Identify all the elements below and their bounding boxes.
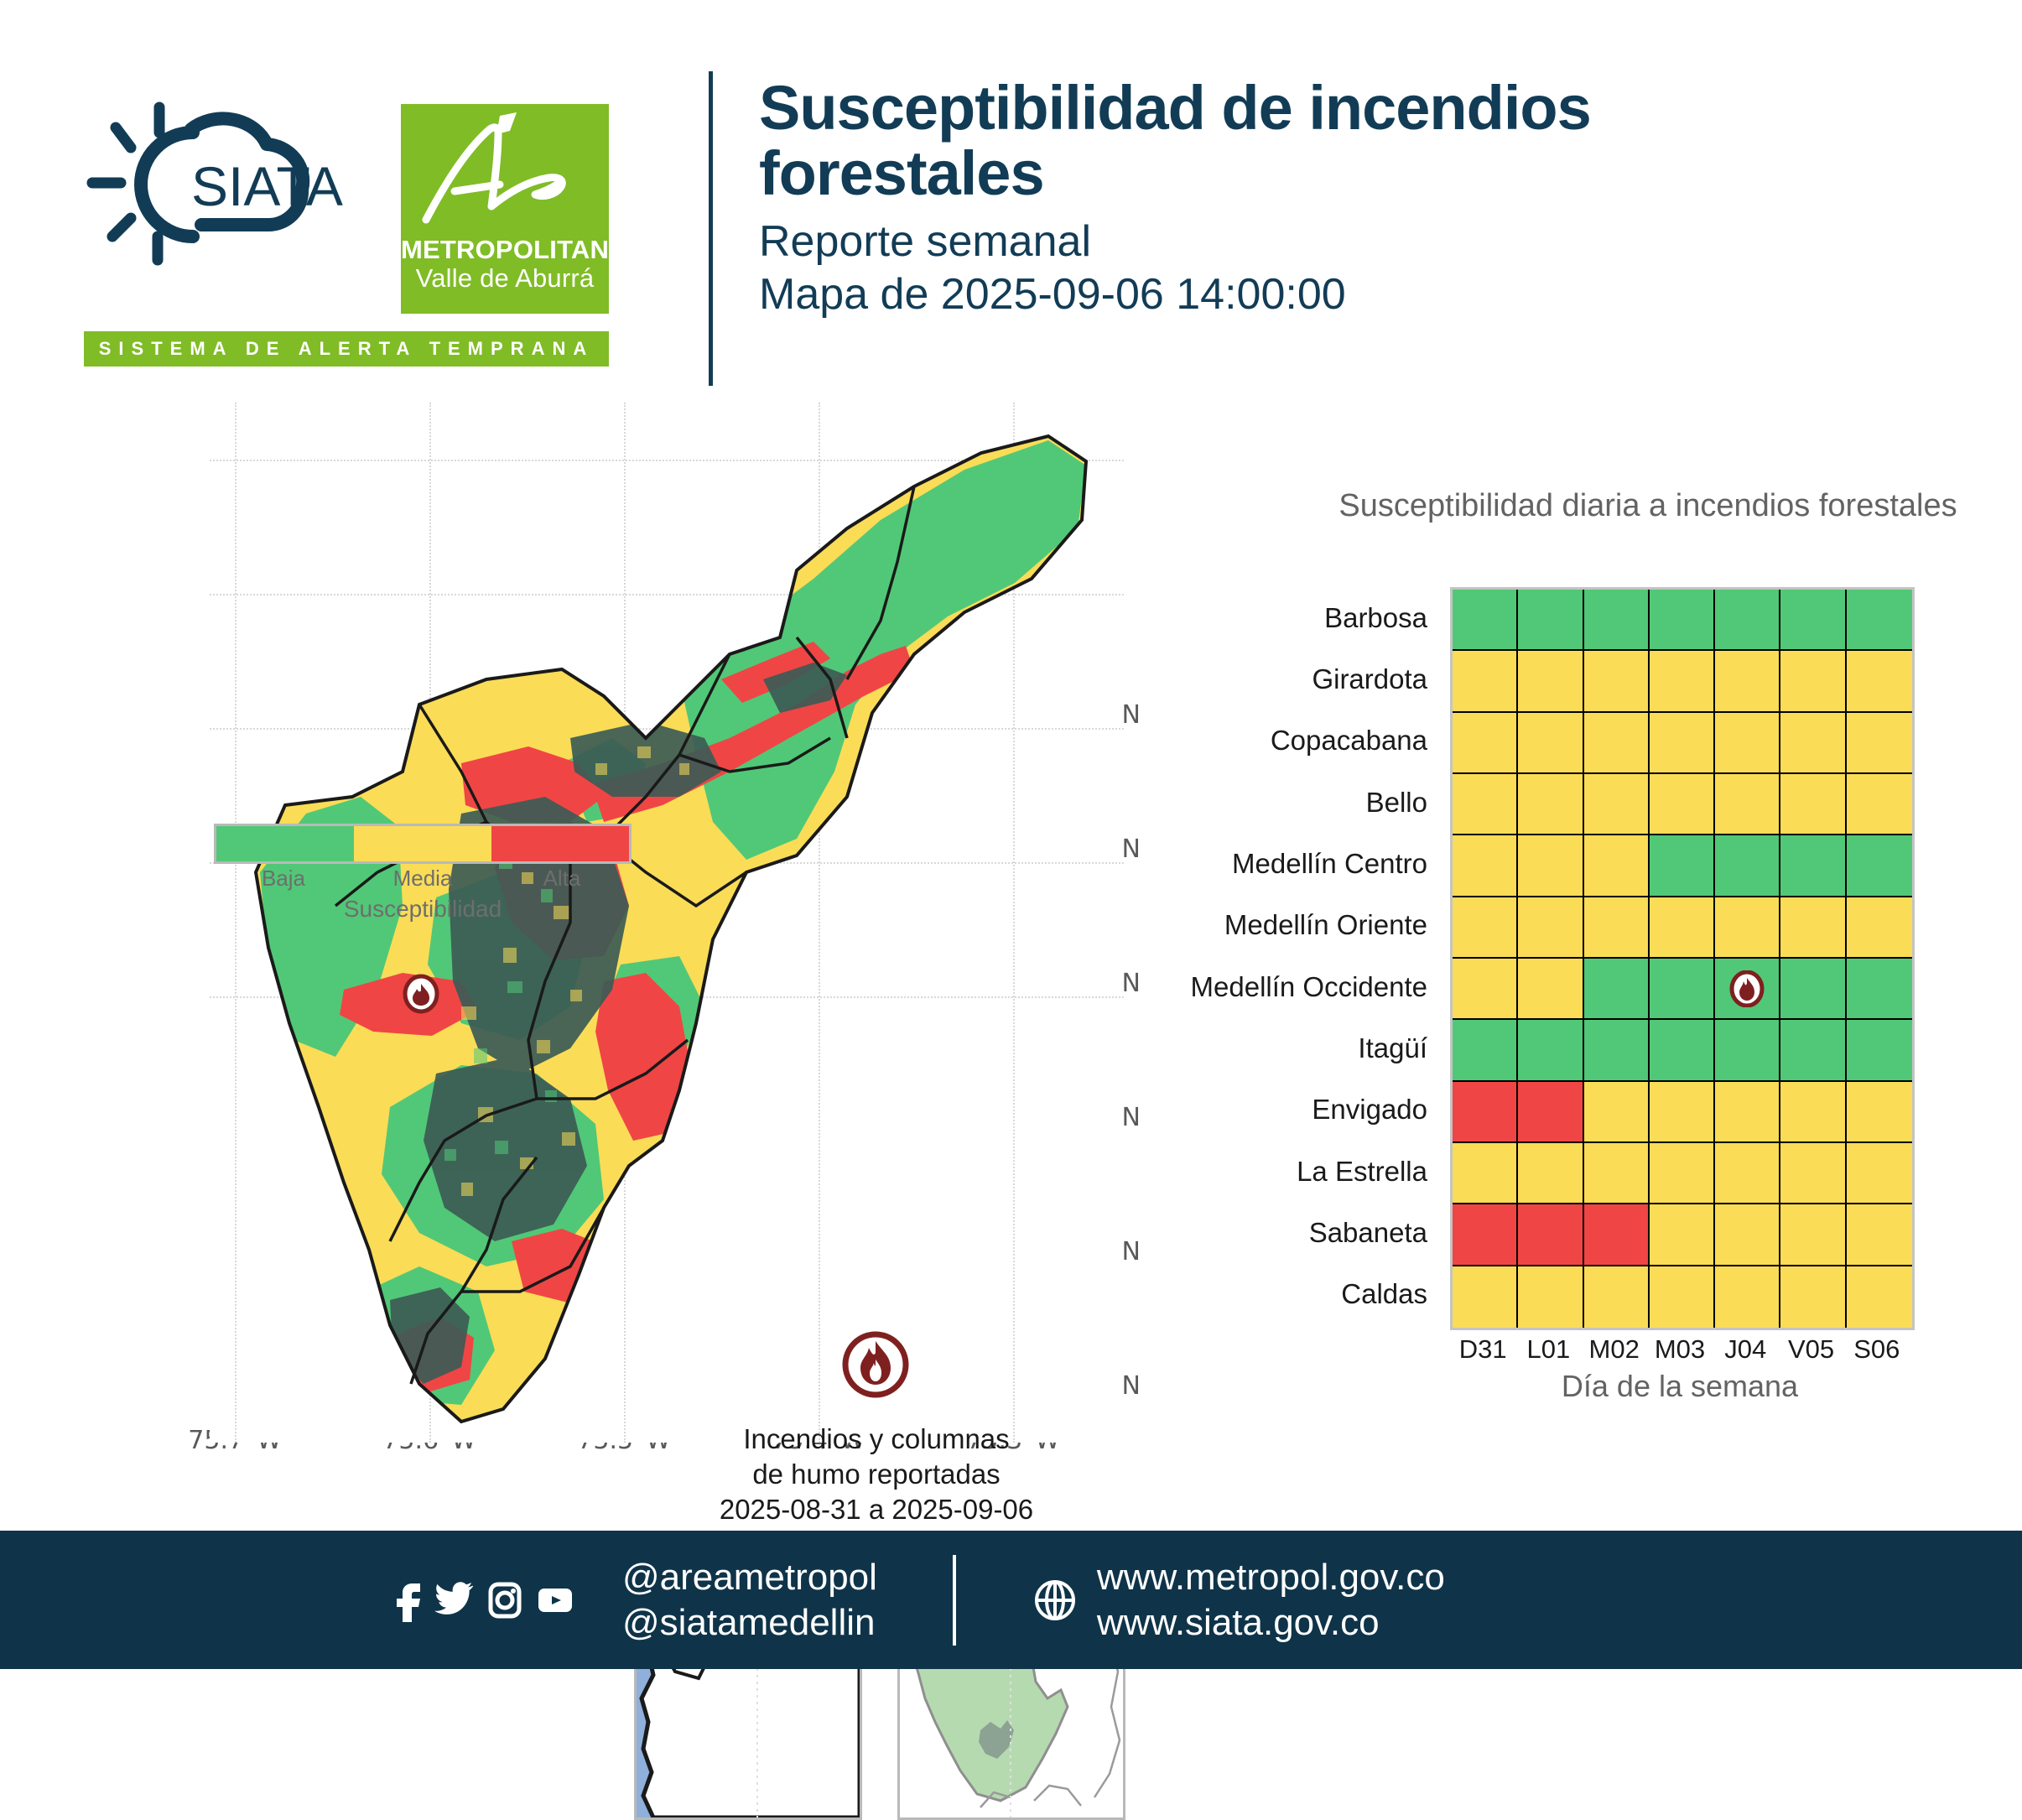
heatmap-cell[interactable] (1453, 1204, 1518, 1266)
heatmap-cell[interactable] (1650, 1204, 1715, 1266)
heatmap-xaxis-title: Día de la semana (1450, 1369, 1910, 1404)
heatmap-cell[interactable] (1650, 774, 1715, 835)
heatmap-cell[interactable] (1584, 1020, 1650, 1081)
handle-areametropol[interactable]: @areametropol (622, 1555, 877, 1600)
heatmap-row-label: Copacabana (1174, 710, 1439, 772)
heatmap-cell[interactable] (1584, 897, 1650, 959)
heatmap-title: Susceptibilidad diaria a incendios fores… (1300, 486, 1996, 525)
heatmap-row-label: Caldas (1174, 1264, 1439, 1325)
heatmap-cell[interactable] (1847, 1204, 1912, 1266)
heatmap-cell[interactable] (1715, 1082, 1780, 1143)
heatmap-cell[interactable] (1780, 651, 1846, 712)
colorbar-title: Susceptibilidad (214, 896, 632, 923)
globe-icon (1032, 1577, 1079, 1624)
heatmap-cell[interactable] (1584, 959, 1650, 1020)
heatmap-cell[interactable] (1518, 1204, 1583, 1266)
heatmap-cell[interactable] (1518, 1020, 1583, 1081)
heatmap-cell[interactable] (1518, 1266, 1583, 1328)
heatmap-cell[interactable] (1715, 590, 1780, 651)
heatmap-cell[interactable] (1847, 651, 1912, 712)
colorbar-tick-media: Media (356, 866, 490, 892)
heatmap-cell[interactable] (1453, 651, 1518, 712)
handle-siatamedellin[interactable]: @siatamedellin (622, 1600, 877, 1646)
heatmap-cell[interactable] (1780, 959, 1846, 1020)
fire-caption-line1: Incendios y columnas (637, 1422, 1115, 1457)
report-footer: @areametropol @siatamedellin www.metropo… (0, 1531, 2022, 1669)
heatmap-cell[interactable] (1715, 1204, 1780, 1266)
heatmap-column-labels: D31L01M02M03J04V05S06 (1450, 1330, 1910, 1369)
heatmap-cell[interactable] (1780, 835, 1846, 897)
heatmap-cell[interactable] (1518, 590, 1583, 651)
heatmap-cell[interactable] (1780, 1143, 1846, 1204)
heatmap-cell[interactable] (1847, 590, 1912, 651)
heatmap-column-label: D31 (1450, 1330, 1515, 1369)
heatmap-cell[interactable] (1847, 1082, 1912, 1143)
heatmap-row-label: Envigado (1174, 1079, 1439, 1141)
heatmap-row-label: Itagüí (1174, 1017, 1439, 1079)
report-page: SIATA METROPOLITANA Valle de Aburrá SIST… (0, 0, 2022, 1669)
heatmap-row-label: La Estrella (1174, 1141, 1439, 1202)
siata-logo-mark: SIATA (84, 92, 394, 285)
heatmap-cell[interactable] (1715, 651, 1780, 712)
heatmap-cell[interactable] (1453, 959, 1518, 1020)
heatmap-row-label: Barbosa (1174, 587, 1439, 648)
heatmap-cell[interactable] (1518, 651, 1583, 712)
heatmap-cell[interactable] (1847, 1266, 1912, 1328)
heatmap-cell[interactable] (1518, 897, 1583, 959)
heatmap-cell[interactable] (1650, 1082, 1715, 1143)
heatmap-grid[interactable] (1450, 587, 1915, 1330)
heatmap-cell[interactable] (1715, 835, 1780, 897)
social-icons[interactable] (394, 1578, 575, 1622)
heatmap-row-label: Girardota (1174, 648, 1439, 710)
area-logo-line1: METROPOLITANA (401, 237, 609, 264)
fire-caption-line2: de humo reportadas (637, 1457, 1115, 1492)
heatmap-cell[interactable] (1453, 1143, 1518, 1204)
siata-logo-text: SIATA (191, 155, 343, 217)
siata-banner: SISTEMA DE ALERTA TEMPRANA (84, 331, 609, 367)
heatmap-cell[interactable] (1780, 1266, 1846, 1328)
heatmap-cell[interactable] (1650, 1143, 1715, 1204)
heatmap-cell[interactable] (1780, 1082, 1846, 1143)
heatmap-cell[interactable] (1453, 835, 1518, 897)
heatmap-cell[interactable] (1715, 897, 1780, 959)
social-handles[interactable]: @areametropol @siatamedellin (622, 1555, 877, 1645)
instagram-icon[interactable] (486, 1578, 523, 1622)
heatmap-cell[interactable] (1650, 1266, 1715, 1328)
colorbar-ticks: Baja Media Alta (214, 866, 632, 899)
heatmap-column-label: S06 (1844, 1330, 1910, 1369)
heatmap-column-label: J04 (1713, 1330, 1778, 1369)
heatmap-cell[interactable] (1584, 651, 1650, 712)
page-title-line2: forestales (759, 141, 1975, 206)
heatmap-cell[interactable] (1584, 1082, 1650, 1143)
youtube-icon[interactable] (535, 1578, 575, 1622)
heatmap-cell[interactable] (1780, 897, 1846, 959)
heatmap-cell[interactable] (1453, 774, 1518, 835)
heatmap-cell[interactable] (1584, 1266, 1650, 1328)
susceptibility-colorbar (214, 824, 632, 864)
heatmap-cell[interactable] (1650, 590, 1715, 651)
page-title-line1: Susceptibilidad de incendios (759, 75, 1975, 141)
colorbar-tick-baja: Baja (216, 866, 351, 892)
heatmap-cell[interactable] (1715, 1143, 1780, 1204)
heatmap-cell[interactable] (1780, 1204, 1846, 1266)
heatmap-cell[interactable] (1847, 713, 1912, 774)
twitter-icon[interactable] (434, 1578, 475, 1622)
heatmap-row-label: Medellín Occidente (1174, 956, 1439, 1017)
heatmap-column-label: L01 (1515, 1330, 1581, 1369)
heatmap-cell[interactable] (1715, 713, 1780, 774)
header-divider (709, 71, 713, 386)
heatmap-cell[interactable] (1453, 1266, 1518, 1328)
heatmap-row-labels: BarbosaGirardotaCopacabanaBelloMedellín … (1174, 587, 1439, 1325)
heatmap-cell[interactable] (1715, 1266, 1780, 1328)
heatmap-cell[interactable] (1847, 774, 1912, 835)
heatmap-column-label: M02 (1582, 1330, 1647, 1369)
heatmap-cell[interactable] (1780, 590, 1846, 651)
heatmap-cell[interactable] (1715, 774, 1780, 835)
heatmap-cell[interactable] (1847, 1143, 1912, 1204)
websites[interactable]: www.metropol.gov.co www.siata.gov.co (1097, 1555, 1445, 1645)
heatmap-cell[interactable] (1518, 713, 1583, 774)
heatmap-cell[interactable] (1453, 1020, 1518, 1081)
website-siata[interactable]: www.siata.gov.co (1097, 1600, 1445, 1646)
page-subtitle: Reporte semanal (759, 216, 1975, 268)
heatmap-cell[interactable] (1584, 835, 1650, 897)
heatmap-cell[interactable] (1650, 897, 1715, 959)
heatmap-column-label: M03 (1647, 1330, 1713, 1369)
website-metropol[interactable]: www.metropol.gov.co (1097, 1555, 1445, 1600)
heatmap-cell[interactable] (1518, 1082, 1583, 1143)
susceptibility-map-panel: 6.5°N 6.4°N 6.3°N 6.2°N 6.1°N 6°N 75.7°W… (50, 394, 1141, 1535)
heatmap-cell[interactable] (1650, 959, 1715, 1020)
page-map-date: Mapa de 2025-09-06 14:00:00 (759, 268, 1975, 320)
heatmap-cell[interactable] (1453, 897, 1518, 959)
fire-caption-line3: 2025-08-31 a 2025-09-06 (637, 1492, 1115, 1527)
heatmap-cell[interactable] (1584, 1204, 1650, 1266)
heatmap-cell[interactable] (1453, 1082, 1518, 1143)
heatmap-cell[interactable] (1518, 1143, 1583, 1204)
heatmap-cell[interactable] (1847, 897, 1912, 959)
heatmap-cell[interactable] (1518, 835, 1583, 897)
fire-icon (840, 1329, 911, 1400)
aburra-valley-susceptibility-map[interactable] (210, 403, 1124, 1443)
heatmap-cell[interactable] (1650, 835, 1715, 897)
colorbar-medium (354, 826, 491, 861)
colorbar-tick-alta: Alta (495, 866, 629, 892)
heatmap-row-label: Sabaneta (1174, 1202, 1439, 1263)
heatmap-cell[interactable] (1847, 959, 1912, 1020)
fire-icon[interactable] (1728, 970, 1765, 1007)
siata-logo: SIATA (84, 92, 394, 285)
heatmap-cell[interactable] (1780, 713, 1846, 774)
facebook-icon[interactable] (394, 1578, 423, 1622)
heatmap-cell[interactable] (1584, 1143, 1650, 1204)
report-header: SIATA METROPOLITANA Valle de Aburrá SIST… (0, 0, 2022, 386)
heatmap-cell[interactable] (1847, 1020, 1912, 1081)
colorbar-low (216, 826, 354, 861)
heatmap-row-label: Bello (1174, 772, 1439, 833)
heatmap-cell[interactable] (1584, 713, 1650, 774)
heatmap-cell[interactable] (1518, 774, 1583, 835)
area-script-mark (401, 104, 609, 230)
heatmap-cell[interactable] (1715, 959, 1780, 1020)
heatmap-cell[interactable] (1584, 590, 1650, 651)
heatmap-cell[interactable] (1780, 774, 1846, 835)
area-logo-line2: Valle de Aburrá (401, 265, 609, 293)
map-plot-area[interactable] (210, 403, 1124, 1443)
heatmap-cell[interactable] (1650, 1020, 1715, 1081)
footer-divider (953, 1555, 956, 1646)
heatmap-cell[interactable] (1715, 1020, 1780, 1081)
heatmap-cell[interactable] (1453, 590, 1518, 651)
colorbar-high (491, 826, 629, 861)
heatmap-row-label: Medellín Oriente (1174, 895, 1439, 956)
heatmap-row-label: Medellín Centro (1174, 833, 1439, 894)
map-fire-marker[interactable] (405, 976, 437, 1011)
title-block: Susceptibilidad de incendios forestales … (759, 75, 1975, 320)
heatmap-cell[interactable] (1650, 713, 1715, 774)
heatmap-cell[interactable] (1453, 713, 1518, 774)
heatmap-column-label: V05 (1778, 1330, 1843, 1369)
heatmap-cell[interactable] (1650, 651, 1715, 712)
area-metropolitana-logo: METROPOLITANA Valle de Aburrá (401, 104, 609, 314)
heatmap-cell[interactable] (1847, 835, 1912, 897)
heatmap-cell[interactable] (1584, 774, 1650, 835)
heatmap-cell[interactable] (1518, 959, 1583, 1020)
daily-susceptibility-heatmap: Susceptibilidad diaria a incendios fores… (1174, 486, 1996, 1476)
heatmap-cell[interactable] (1780, 1020, 1846, 1081)
